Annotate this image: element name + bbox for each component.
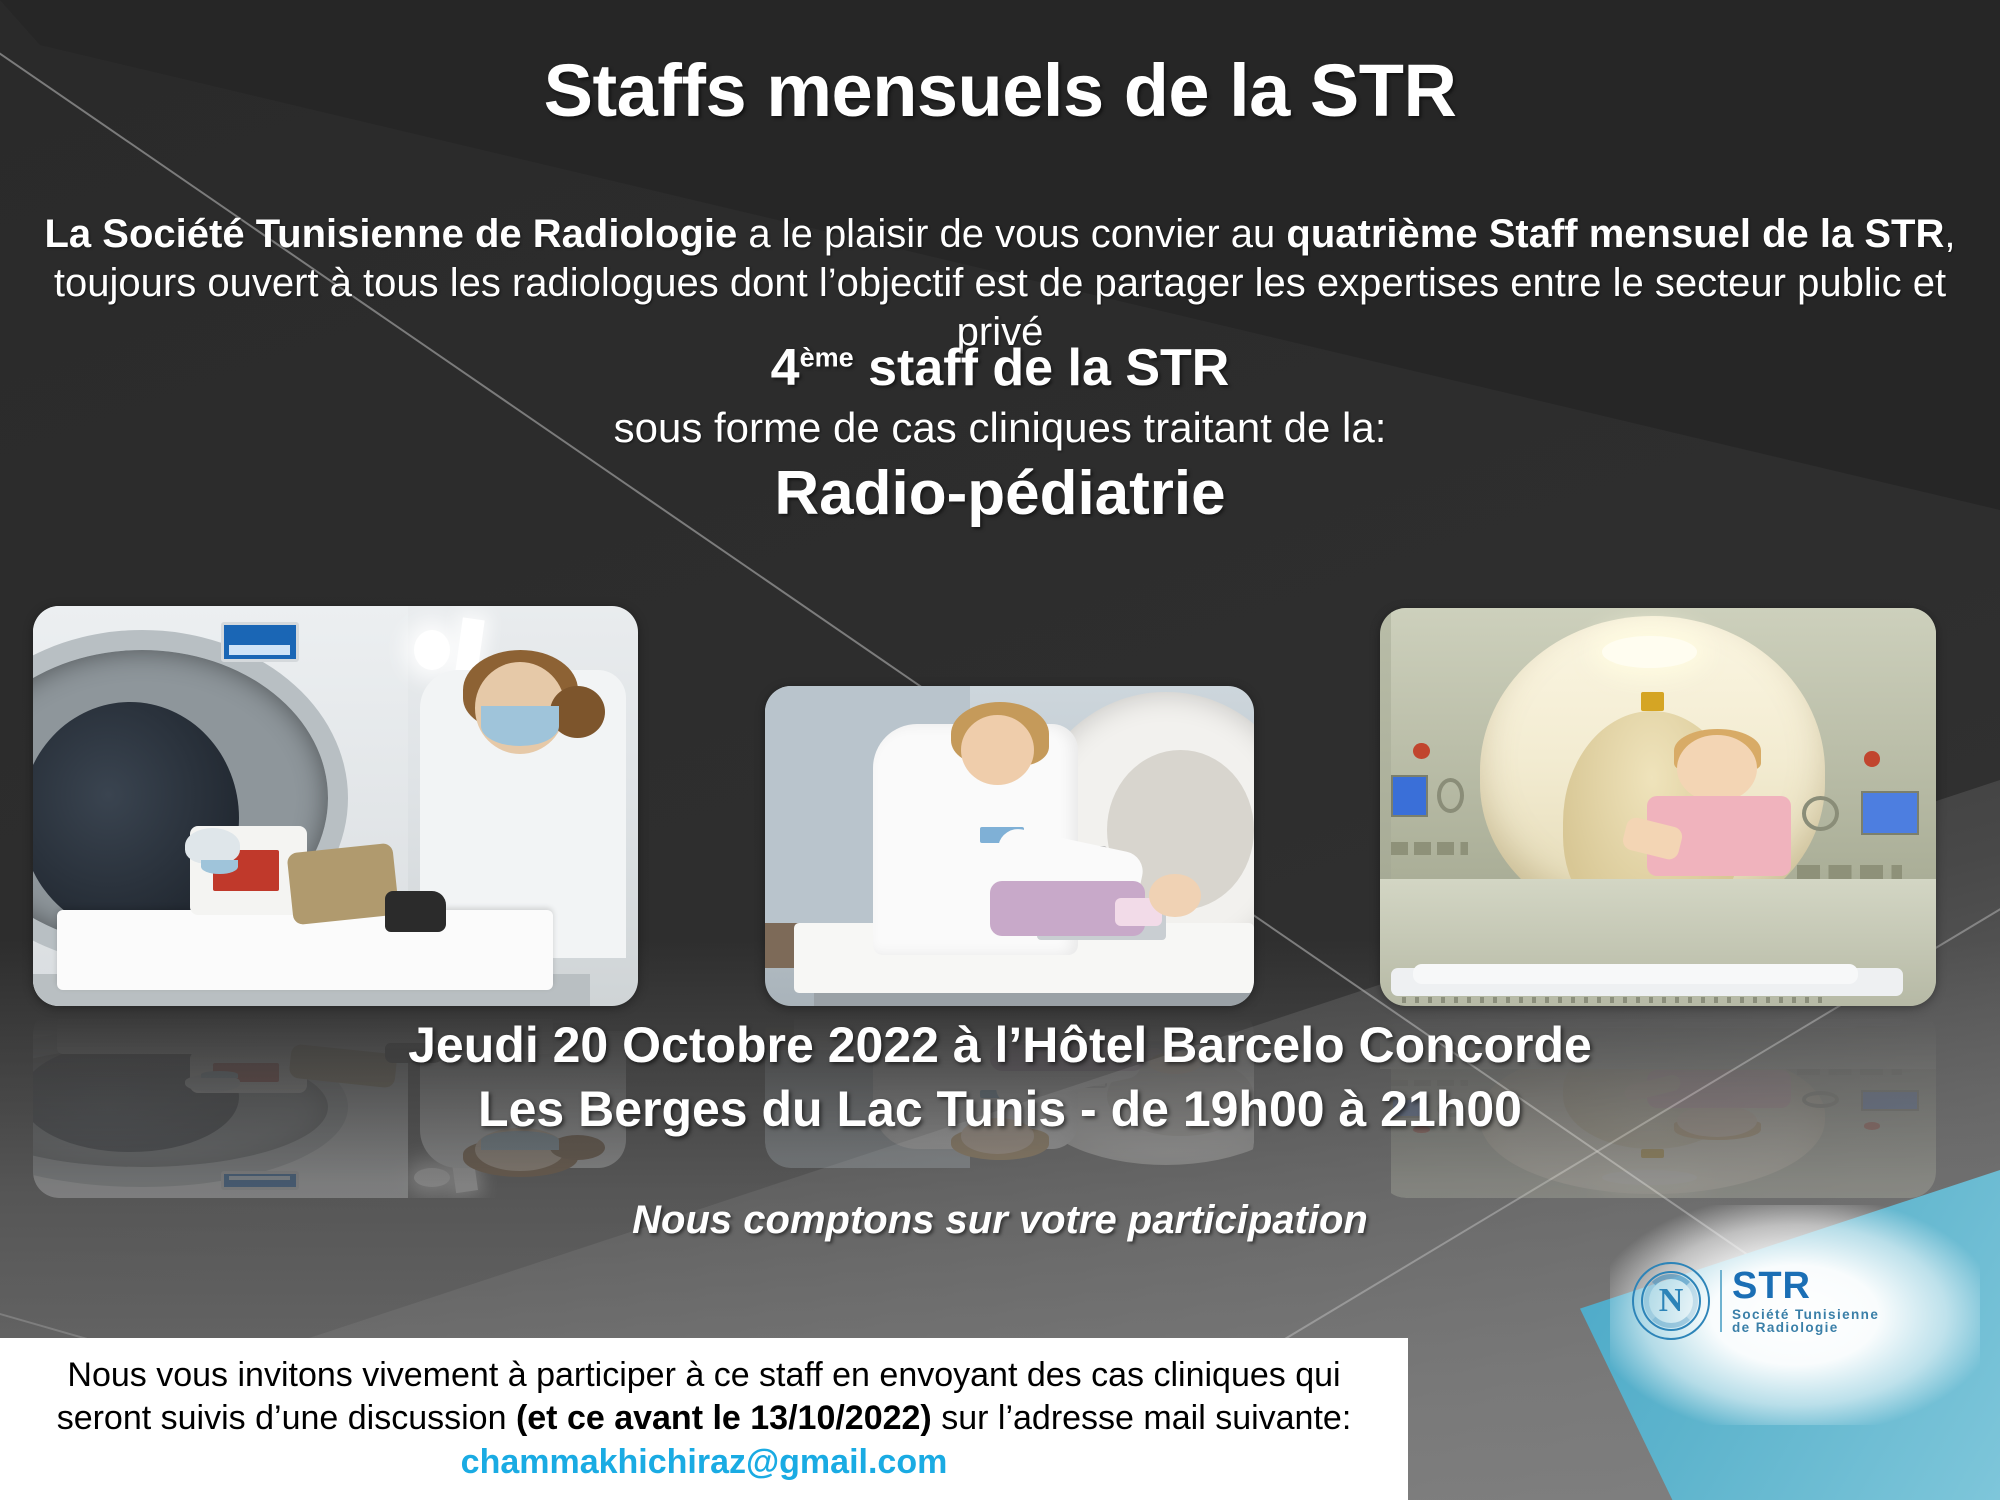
note-part2: sur l’adresse mail suivante:: [932, 1399, 1352, 1437]
staff-subheading: sous forme de cas cliniques traitant de …: [0, 404, 2000, 452]
str-logo-text: STR Société Tunisienne de Radiologie: [1732, 1267, 1879, 1335]
staff-ordinal-suffix: ème: [800, 343, 854, 373]
slide-canvas: Staffs mensuels de la STR La Société Tun…: [0, 0, 2000, 1500]
str-logo-corner: N STR Société Tunisienne de Radiologie: [1580, 1170, 2000, 1500]
submission-note-text: Nous vous invitons vivement à participer…: [0, 1354, 1408, 1485]
note-deadline: (et ce avant le 13/10/2022): [516, 1399, 932, 1437]
str-name-line2: de Radiologie: [1732, 1321, 1879, 1335]
intro-mid-text: a le plaisir de vous convier au: [737, 212, 1286, 256]
event-address-time: Les Berges du Lac Tunis - de 19h00 à 21h…: [0, 1077, 2000, 1141]
staff-ordinal-number: 4: [771, 339, 800, 397]
str-acronym: STR: [1732, 1267, 1879, 1306]
str-name-line1: Société Tunisienne: [1732, 1308, 1879, 1322]
page-title: Staffs mensuels de la STR: [0, 48, 2000, 133]
str-logo: N STR Société Tunisienne de Radiologie: [1632, 1262, 1879, 1340]
intro-bold-society: La Société Tunisienne de Radiologie: [45, 212, 738, 256]
str-monogram: N: [1632, 1262, 1710, 1340]
str-emblem-icon: N: [1632, 1262, 1710, 1340]
staff-heading: 4ème staff de la STR: [0, 338, 2000, 398]
staff-heading-text: staff de la STR: [854, 339, 1230, 397]
contact-email-link[interactable]: chammakhichiraz@gmail.com: [461, 1443, 948, 1481]
submission-note-box: Nous vous invitons vivement à participer…: [0, 1338, 1408, 1500]
topic-heading: Radio-pédiatrie: [0, 458, 2000, 529]
intro-paragraph: La Société Tunisienne de Radiologie a le…: [40, 210, 1960, 356]
logo-divider: [1720, 1270, 1722, 1332]
event-date-venue: Jeudi 20 Octobre 2022 à l’Hôtel Barcelo …: [0, 1013, 2000, 1077]
intro-bold-staff: quatrième Staff mensuel de la STR: [1286, 212, 1944, 256]
event-details: Jeudi 20 Octobre 2022 à l’Hôtel Barcelo …: [0, 1013, 2000, 1141]
